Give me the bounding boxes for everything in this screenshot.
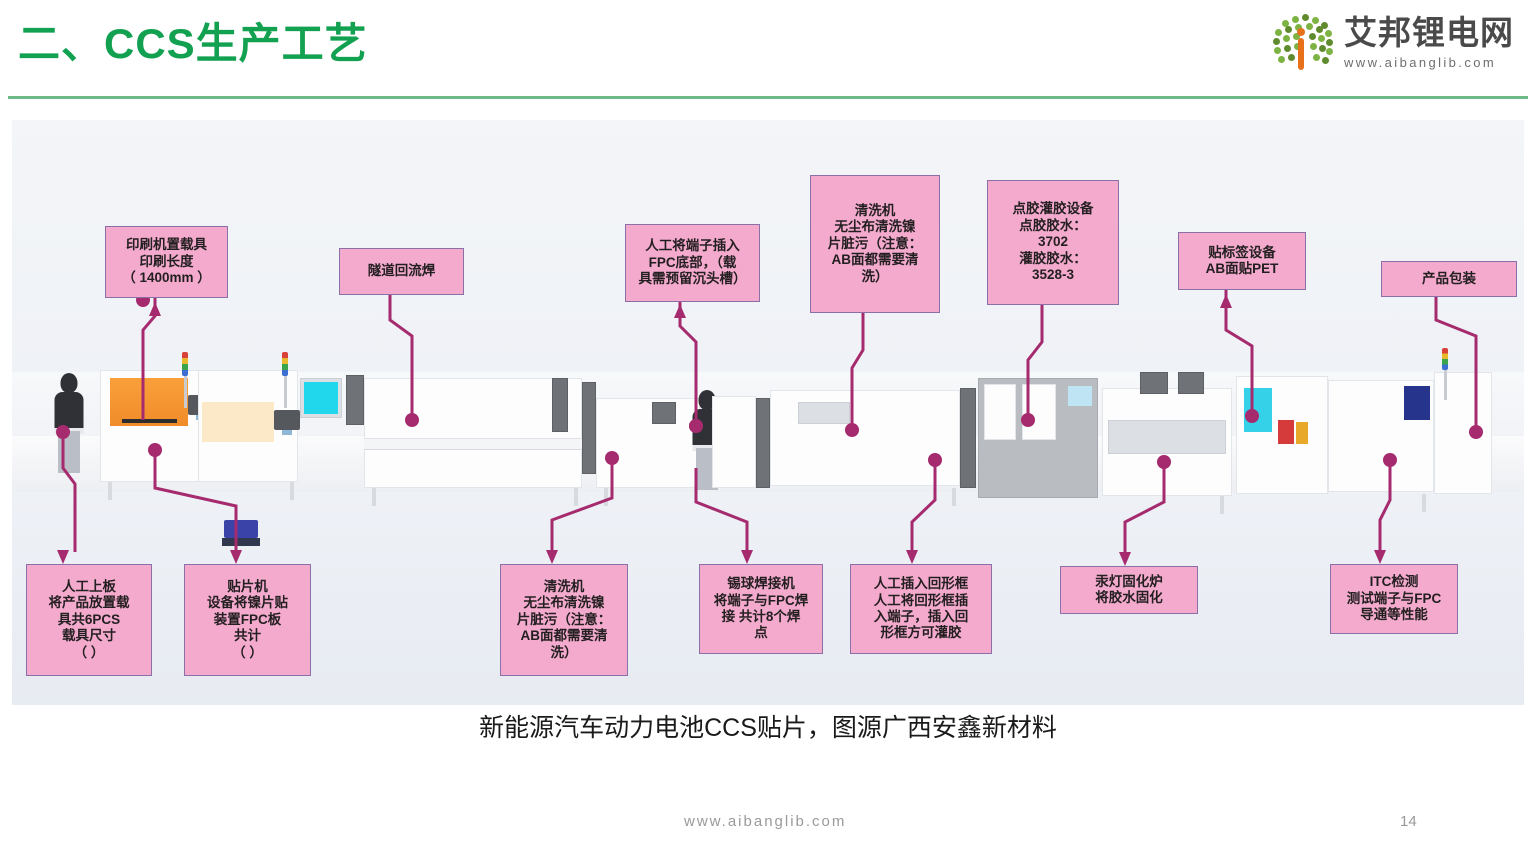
production-line-figure: 印刷机置载具 印刷长度 （ 1400mm ） 隧道回流焊 人工将端子插入 FPC… xyxy=(12,120,1524,705)
slide-root: 二、CCS生产工艺 xyxy=(0,0,1536,864)
machine-foot xyxy=(574,488,578,506)
machine-packaging xyxy=(1434,372,1492,494)
header-divider xyxy=(8,96,1528,99)
machine-transfer-1 xyxy=(712,396,756,488)
dispenser-door-2 xyxy=(1022,384,1056,440)
machine-reflow-oven xyxy=(364,378,582,488)
dispenser-door-1 xyxy=(984,384,1016,440)
machine-foot xyxy=(952,488,956,506)
machine-foot xyxy=(108,482,112,500)
machine-foot xyxy=(372,488,376,506)
brand-logo: 艾邦锂电网 www.aibanglib.com xyxy=(1270,12,1514,74)
divider-column-2 xyxy=(960,388,976,488)
page-title: 二、CCS生产工艺 xyxy=(18,10,368,71)
callout-uv-cure[interactable]: 汞灯固化炉 将胶水固化 xyxy=(1060,566,1198,614)
tree-logo-icon xyxy=(1270,12,1332,74)
washer-1-window xyxy=(652,402,676,424)
callout-itc-test[interactable]: ITC检测 测试端子与FPC 导通等性能 xyxy=(1330,564,1458,634)
callout-dispense[interactable]: 点胶灌胶设备 点胶胶水： 3702 灌胶胶水： 3528-3 xyxy=(987,180,1119,305)
machine-foot xyxy=(1422,494,1426,512)
callout-frame-insert[interactable]: 人工插入回形框 人工将回形框插 入端子，插入回 形框方可灌胶 xyxy=(850,564,992,654)
mounter-monitor xyxy=(274,410,300,430)
machine-washer-1 xyxy=(596,398,700,488)
callout-terminal-insert[interactable]: 人工将端子插入 FPC底部，（载 具需预留沉头槽） xyxy=(625,224,760,302)
mounter-signal-tower xyxy=(282,352,288,376)
solder-ball-panel xyxy=(798,402,850,424)
reflow-exit-column xyxy=(582,382,596,474)
callout-mounter[interactable]: 贴片机 设备将镍片贴 装置FPC板 共计 （ ） xyxy=(184,564,311,676)
callout-solder-ball[interactable]: 锡球焊接机 将端子与FPC焊 接 共计8个焊 点 xyxy=(699,564,823,654)
mounter-cream-panel xyxy=(202,402,274,442)
footer-website: www.aibanglib.com xyxy=(684,813,846,830)
callout-washer-top[interactable]: 清洗机 无尘布清洗镍 片脏污（注意： AB面都需要清 洗） xyxy=(810,175,940,313)
figure-caption: 新能源汽车动力电池CCS贴片，图源广西安鑫新材料 xyxy=(0,708,1536,744)
itc-blue-panel xyxy=(1404,386,1430,420)
packaging-signal-tower xyxy=(1442,348,1448,370)
mounter-feeder-base xyxy=(222,538,260,546)
logo-website: www.aibanglib.com xyxy=(1344,55,1514,70)
uv-oven-hood-2 xyxy=(1178,372,1204,394)
printer-signal-tower xyxy=(182,352,188,376)
machine-foot xyxy=(290,482,294,500)
footer-page-number: 14 xyxy=(1400,813,1417,830)
logo-brand-name: 艾邦锂电网 xyxy=(1344,16,1514,51)
labeler-screen xyxy=(1244,388,1272,432)
divider-column-1 xyxy=(756,398,770,488)
callout-printer[interactable]: 印刷机置载具 印刷长度 （ 1400mm ） xyxy=(105,226,228,298)
reflow-conveyor xyxy=(364,438,582,450)
uv-oven-hood-1 xyxy=(1140,372,1168,394)
reflow-column-2 xyxy=(552,378,568,432)
callout-labeling[interactable]: 贴标签设备 AB面贴PET xyxy=(1178,232,1306,290)
labeler-reel-yellow xyxy=(1296,422,1308,444)
machine-foot xyxy=(604,488,608,506)
printer-rail xyxy=(122,419,177,423)
callout-packaging[interactable]: 产品包装 xyxy=(1381,261,1517,297)
uv-oven-window xyxy=(1108,420,1226,454)
reflow-screen xyxy=(304,382,338,414)
mounter-feeder xyxy=(224,520,258,538)
callout-washer-bottom[interactable]: 清洗机 无尘布清洗镍 片脏污（注意： AB面都需要清 洗） xyxy=(500,564,628,676)
dispenser-hmi xyxy=(1068,386,1092,406)
callout-manual-load[interactable]: 人工上板 将产品放置载 具共6PCS 载具尺寸 （ ） xyxy=(26,564,152,676)
reflow-column-1 xyxy=(346,375,364,425)
operator-figure-1 xyxy=(54,373,84,473)
machine-foot xyxy=(1220,496,1224,514)
labeler-reel-red xyxy=(1278,420,1294,444)
callout-reflow[interactable]: 隧道回流焊 xyxy=(339,248,464,295)
